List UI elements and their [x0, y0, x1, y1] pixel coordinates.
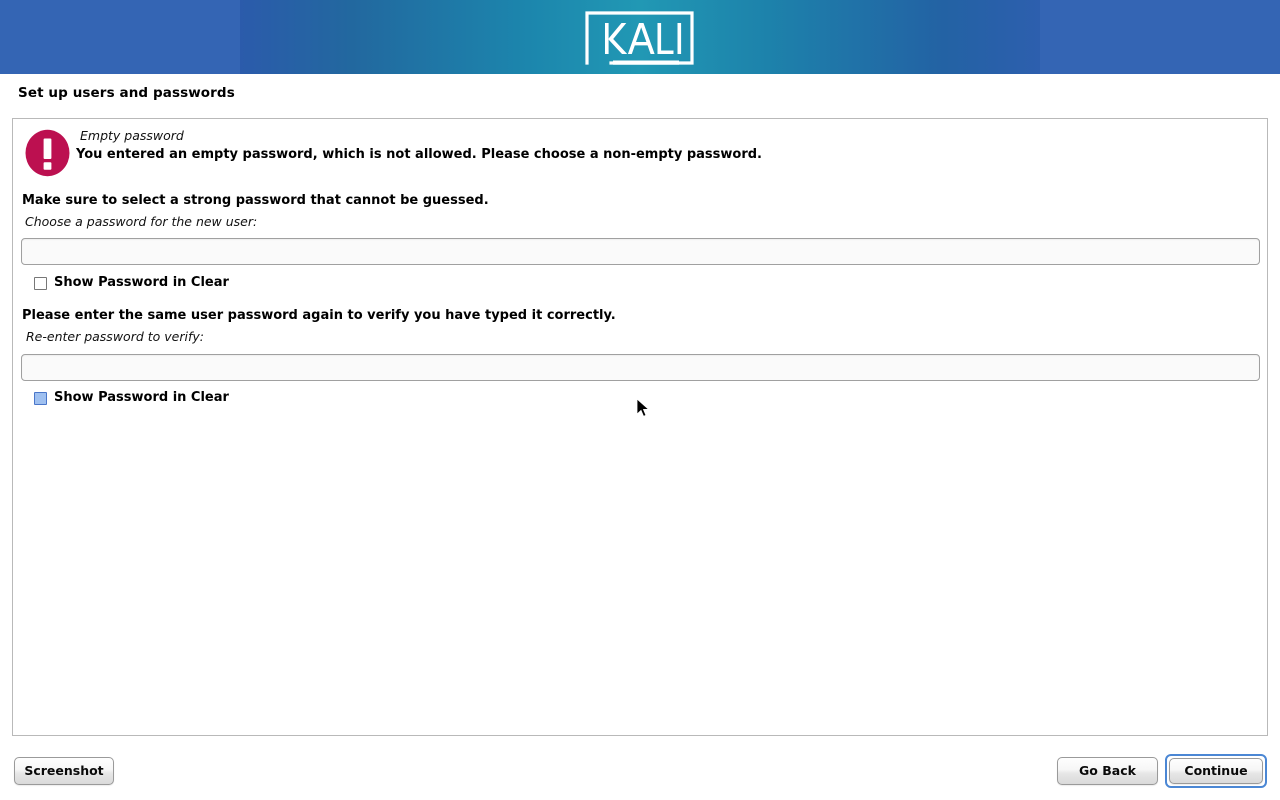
main-panel: Empty password You entered an empty pass… [12, 118, 1268, 736]
password-input[interactable] [21, 238, 1260, 265]
verify-password-note: Please enter the same user password agai… [22, 308, 616, 323]
go-back-button[interactable]: Go Back [1057, 757, 1158, 785]
strong-password-note: Make sure to select a strong password th… [22, 193, 489, 208]
error-title: Empty password [80, 128, 184, 143]
kali-logo-icon [583, 9, 696, 67]
installer-banner [0, 0, 1280, 74]
continue-button-focus-ring: Continue [1165, 754, 1267, 788]
verify-password-input[interactable] [21, 354, 1260, 381]
show-password-2-checkbox[interactable] [34, 392, 47, 405]
error-message: You entered an empty password, which is … [76, 147, 762, 162]
show-password-2-label: Show Password in Clear [54, 390, 229, 405]
error-exclamation-icon [24, 129, 71, 177]
show-password-1-label: Show Password in Clear [54, 275, 229, 290]
show-password-1-checkbox[interactable] [34, 277, 47, 290]
continue-button[interactable]: Continue [1169, 758, 1263, 784]
page-title: Set up users and passwords [18, 85, 235, 101]
screenshot-button[interactable]: Screenshot [14, 757, 114, 785]
verify-field-label: Re-enter password to verify: [26, 329, 204, 344]
password-field-label: Choose a password for the new user: [25, 214, 257, 229]
error-block: Empty password You entered an empty pass… [13, 119, 1267, 191]
